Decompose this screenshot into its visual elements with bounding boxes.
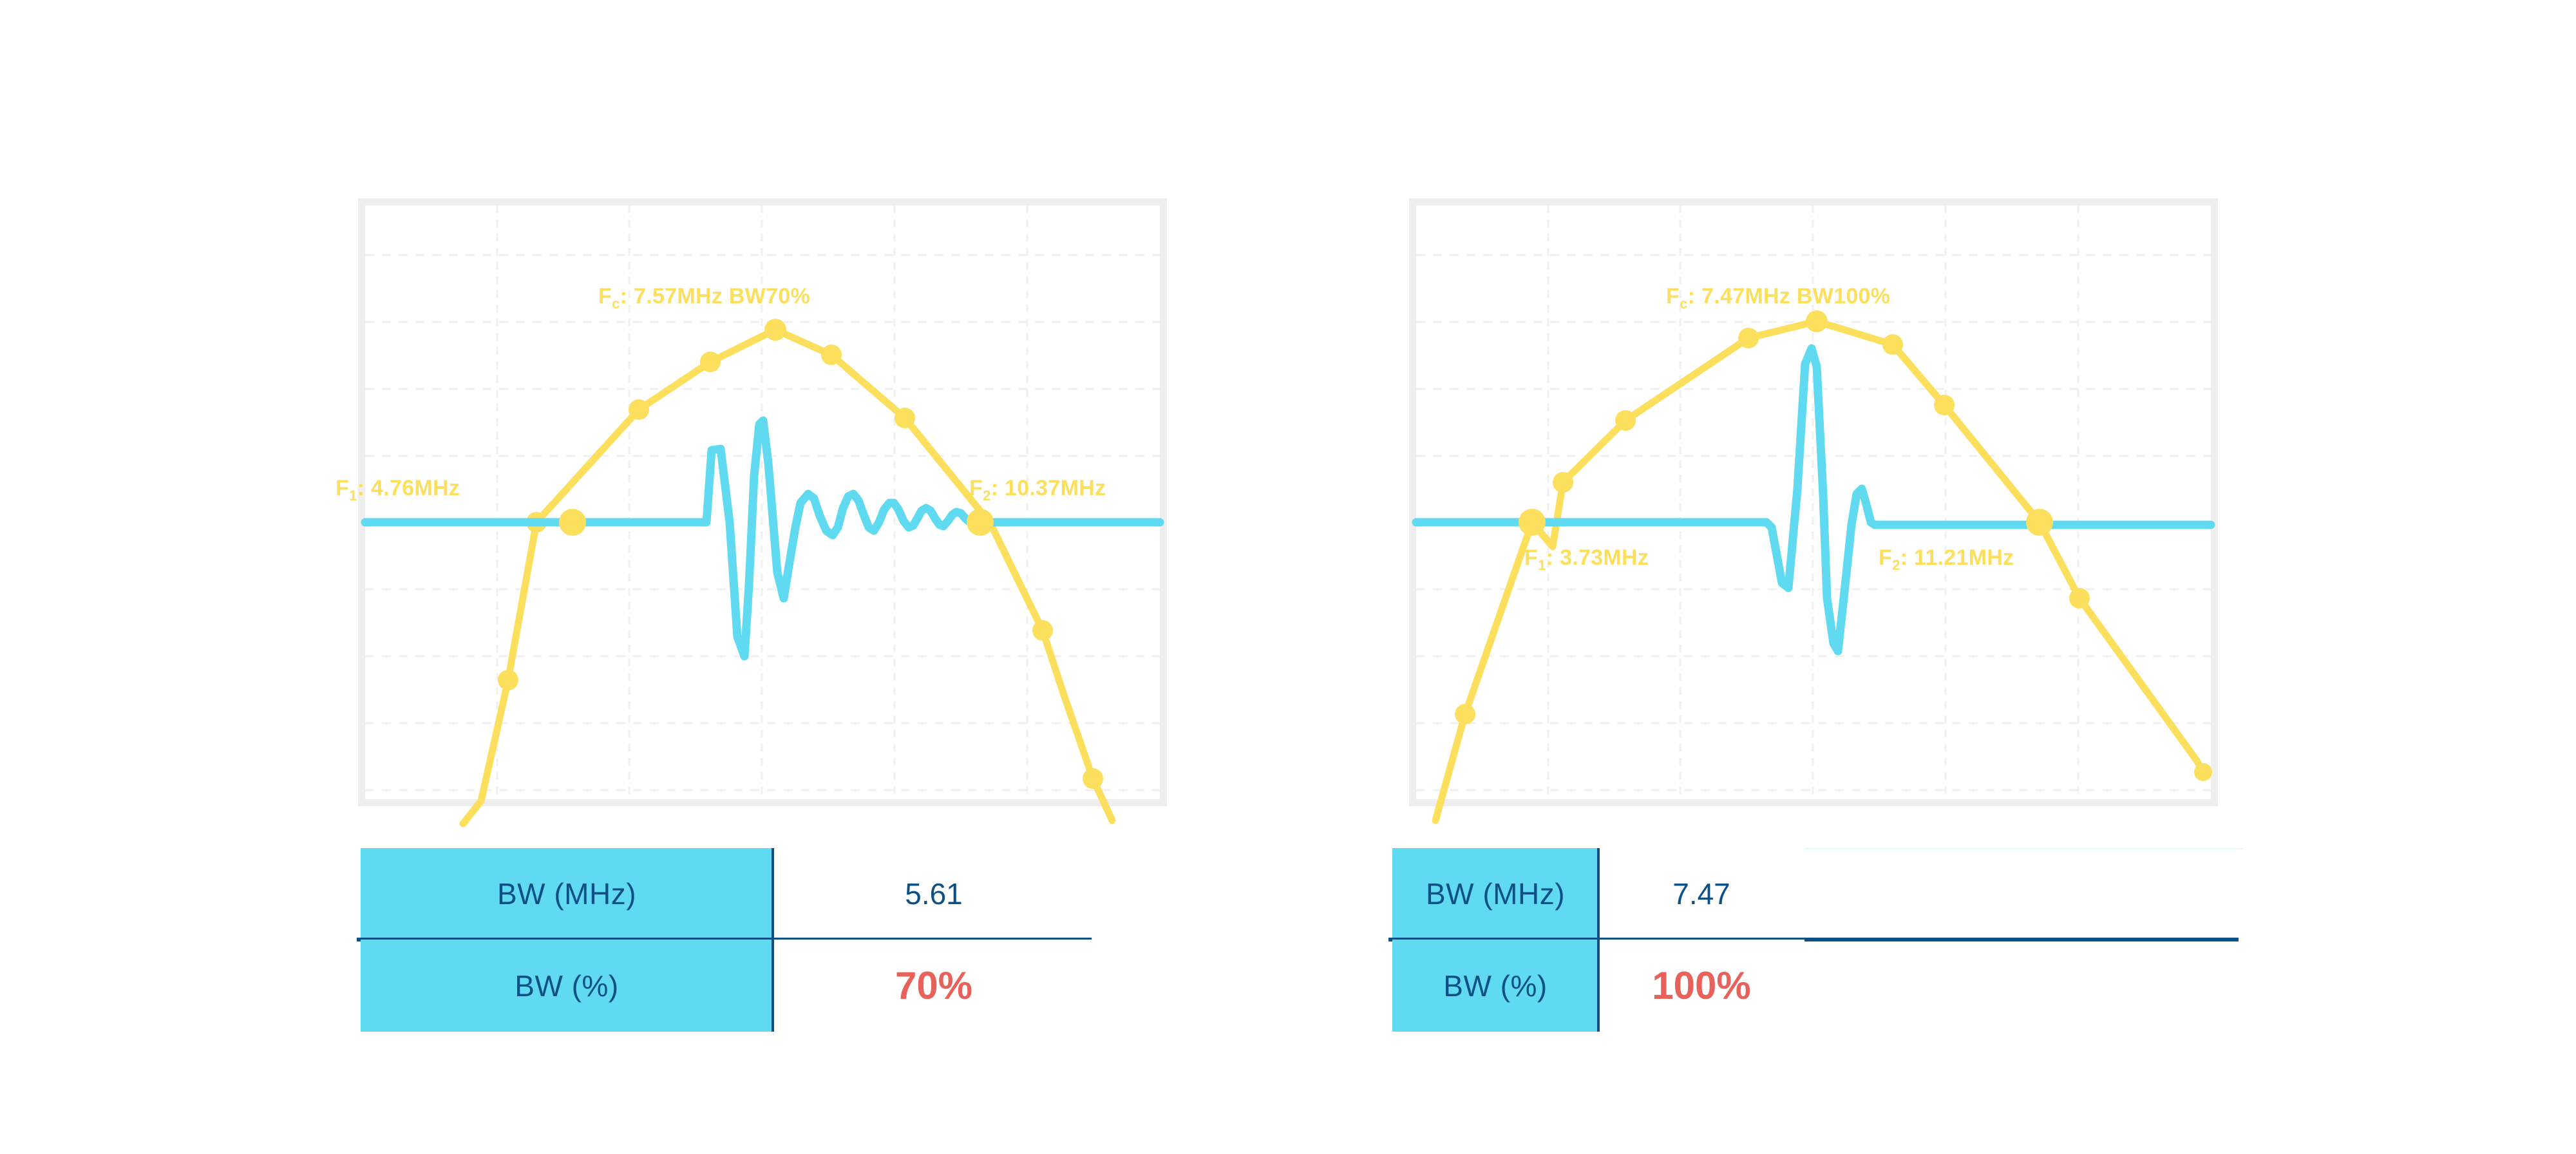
label-fc-right-text: : 7.47MHz BW100% (1688, 284, 1891, 308)
label-f2-right-sub: 2 (1892, 557, 1900, 573)
bw-pct-value-left: 70% (773, 940, 1095, 1032)
table-column-divider-left (772, 848, 774, 1032)
label-fc-left: Fc: 7.57MHz BW70% (598, 284, 810, 309)
label-f2-left-sub: 2 (983, 487, 991, 504)
f2-node-right (2026, 509, 2053, 536)
bw-pct-label-right: BW (%) (1392, 940, 1598, 1032)
bw-table-right: BW (MHz) 7.47 BW (%) 100% (1392, 848, 2242, 1032)
label-f2-right-text: : 11.21MHz (1900, 545, 2014, 570)
label-f1-right-prefix: F (1524, 545, 1538, 570)
label-fc-left-text: : 7.57MHz BW70% (620, 284, 810, 308)
bw-mhz-label-right: BW (MHz) (1392, 848, 1598, 940)
label-fc-left-prefix: F (598, 284, 612, 308)
bw-mhz-label-left: BW (MHz) (361, 848, 773, 940)
label-f1-right-text: : 3.73MHz (1546, 545, 1649, 570)
label-fc-right: Fc: 7.47MHz BW100% (1666, 284, 1890, 309)
table-row: BW (%) 70% (361, 940, 1095, 1032)
bw-pct-label-left: BW (%) (361, 940, 773, 1032)
table-row: BW (%) 100% (1392, 940, 2242, 1032)
label-f2-left-prefix: F (969, 476, 983, 500)
table-row: BW (MHz) 5.61 (361, 848, 1095, 940)
label-fc-left-sub: c (612, 296, 620, 312)
label-fc-right-prefix: F (1666, 284, 1680, 308)
table-column-divider-right (1597, 848, 1600, 1032)
label-f2-left-text: : 10.37MHz (991, 476, 1106, 500)
chart-left: Fc: 7.57MHz BW70% F1: 4.76MHz F2: 10.37M… (358, 198, 1167, 806)
f1-node-right (1519, 509, 1546, 536)
bw-mhz-value-right: 7.47 (1598, 848, 1804, 940)
table-row: BW (MHz) 7.47 (1392, 848, 2242, 940)
label-f2-right: F2: 11.21MHz (1879, 545, 2014, 571)
f1-node-left (559, 509, 586, 536)
label-f1-right: F1: 3.73MHz (1524, 545, 1649, 571)
bw-pct-value-right: 100% (1598, 940, 1804, 1032)
f2-node-left (967, 509, 994, 536)
chart-right: Fc: 7.47MHz BW100% F1: 3.73MHz F2: 11.21… (1409, 198, 2218, 806)
label-f1-right-sub: 1 (1538, 557, 1546, 573)
label-f1-left-text: : 4.76MHz (357, 476, 460, 500)
label-f1-left-sub: 1 (349, 487, 357, 504)
label-fc-right-sub: c (1680, 296, 1688, 312)
label-f2-left: F2: 10.37MHz (969, 476, 1106, 501)
label-f1-left: F1: 4.76MHz (336, 476, 460, 501)
label-f1-left-prefix: F (336, 476, 349, 500)
bw-table-left: BW (MHz) 5.61 BW (%) 70% (361, 848, 1095, 1032)
bw-mhz-value-left: 5.61 (773, 848, 1095, 940)
label-f2-right-prefix: F (1879, 545, 1892, 570)
